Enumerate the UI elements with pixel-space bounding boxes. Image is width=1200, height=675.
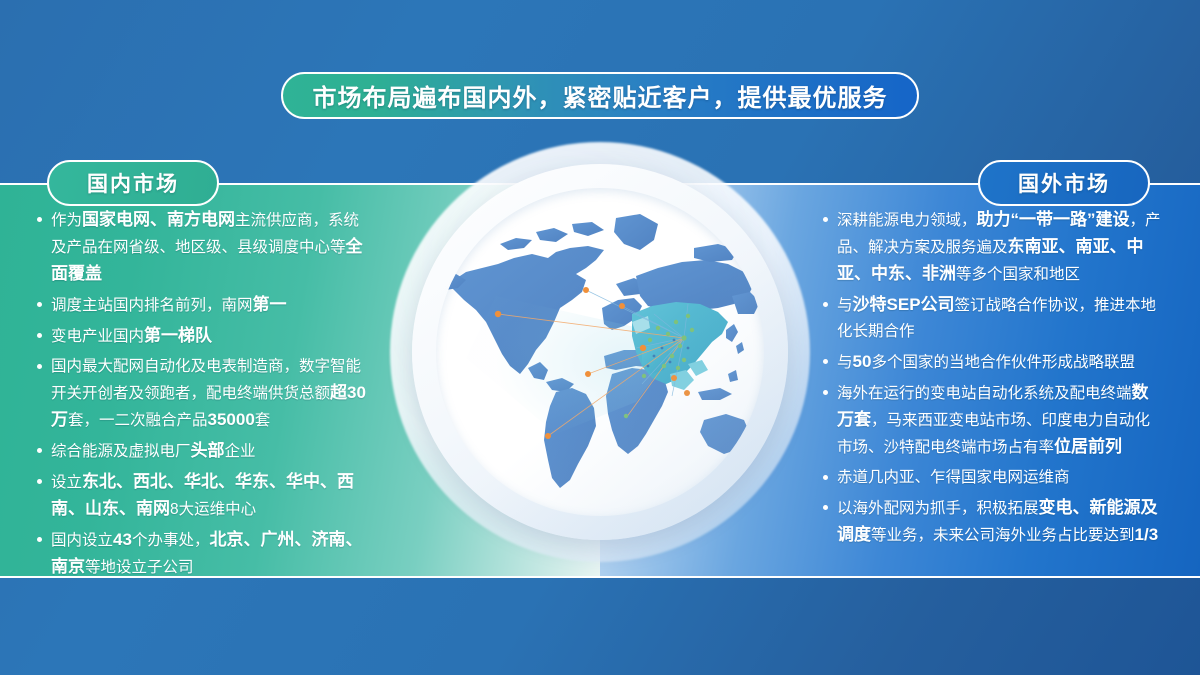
domestic-bullet-5: 综合能源及虚拟电厂头部企业 [36, 438, 366, 465]
bullet-text: 国内最大配网自动化及电表制造商，数字智能开关开创者及领跑者，配电终端供货总额 [51, 358, 361, 402]
bullet-text: 深耕能源电力领域， [837, 212, 977, 229]
bullet-text: 调度主站国内排名前列，南网 [51, 297, 253, 314]
section-header-overseas-label: 国外市场 [1018, 168, 1110, 198]
bullet-emphasis: 位居前列 [1054, 437, 1122, 456]
slide-title: 市场布局遍布国内外，紧密贴近客户，提供最优服务 [281, 72, 919, 119]
bullet-text: 国内设立 [51, 532, 113, 549]
overseas-bullet-3: 与50多个国家的当地合作伙件形成战略联盟 [822, 349, 1162, 376]
bullet-text: 套 [255, 412, 271, 429]
bullet-emphasis: 50 [853, 352, 872, 371]
bullet-emphasis: 35000 [208, 410, 255, 429]
bullet-text: 等业务，未来公司海外业务占比要达到 [871, 527, 1135, 544]
bullet-emphasis: 沙特SEP公司 [853, 295, 955, 314]
bullet-emphasis: 第一梯队 [144, 326, 212, 345]
section-header-domestic: 国内市场 [47, 160, 219, 206]
domestic-bullet-7: 国内设立43个办事处，北京、广州、济南、南京等地设立子公司 [36, 527, 366, 581]
bullet-text: 综合能源及虚拟电厂 [51, 443, 191, 460]
section-header-overseas: 国外市场 [978, 160, 1150, 206]
slide-title-text: 市场布局遍布国内外，紧密贴近客户，提供最优服务 [313, 78, 888, 113]
bullet-text: 个办事处， [132, 532, 210, 549]
bullet-text: 等多个国家和地区 [956, 266, 1080, 283]
overseas-bullet-1: 深耕能源电力领域，助力“一带一路”建设，产品、解决方案及服务遍及东南亚、南亚、中… [822, 207, 1162, 288]
overseas-bullet-list: 深耕能源电力领域，助力“一带一路”建设，产品、解决方案及服务遍及东南亚、南亚、中… [822, 207, 1162, 553]
bullet-emphasis: 国家电网、南方电网 [82, 210, 235, 229]
bullet-emphasis: 43 [113, 530, 132, 549]
bullet-text: 8大运维中心 [170, 501, 256, 518]
domestic-bullet-list: 作为国家电网、南方电网主流供应商，系统及产品在网省级、地区级、县级调度中心等全面… [36, 207, 366, 585]
bullet-emphasis: 1/3 [1135, 525, 1159, 544]
bullet-text: 作为 [51, 212, 82, 229]
bullet-text: 与 [837, 354, 853, 371]
bullet-text: 等地设立子公司 [85, 559, 194, 576]
bullet-emphasis: 头部 [191, 441, 225, 460]
domestic-bullet-3: 变电产业国内第一梯队 [36, 323, 366, 350]
domestic-bullet-6: 设立东北、西北、华北、华东、华中、西南、山东、南网8大运维中心 [36, 469, 366, 523]
domestic-bullet-1: 作为国家电网、南方电网主流供应商，系统及产品在网省级、地区级、县级调度中心等全面… [36, 207, 366, 288]
section-header-domestic-label: 国内市场 [87, 168, 179, 198]
overseas-bullet-5: 赤道几内亚、乍得国家电网运维商 [822, 465, 1162, 491]
bullet-text: 海外在运行的变电站自动化系统及配电终端 [837, 385, 1132, 402]
overseas-bullet-2: 与沙特SEP公司签订战略合作协议，推进本地化长期合作 [822, 292, 1162, 345]
bullet-emphasis: 助力“一带一路”建设 [977, 210, 1130, 229]
overseas-bullet-4: 海外在运行的变电站自动化系统及配电终端数万套，马来西亚变电站市场、印度电力自动化… [822, 380, 1162, 461]
domestic-bullet-4: 国内最大配网自动化及电表制造商，数字智能开关开创者及领跑者，配电终端供货总额超3… [36, 354, 366, 434]
overseas-bullet-6: 以海外配网为抓手，积极拓展变电、新能源及调度等业务，未来公司海外业务占比要达到1… [822, 495, 1162, 549]
domestic-bullet-2: 调度主站国内排名前列，南网第一 [36, 292, 366, 319]
bullet-text: 赤道几内亚、乍得国家电网运维商 [837, 469, 1070, 486]
bullet-text: 企业 [225, 443, 256, 460]
bullet-text: 套，一二次融合产品 [68, 412, 208, 429]
bullet-text: 设立 [51, 474, 82, 491]
bullet-text: 变电产业国内 [51, 328, 144, 345]
bullet-text: 与 [837, 297, 853, 314]
bullet-text: 多个国家的当地合作伙件形成战略联盟 [871, 354, 1135, 371]
bullet-emphasis: 第一 [253, 295, 287, 314]
bullet-text: 以海外配网为抓手，积极拓展 [837, 500, 1039, 517]
slide-canvas: 市场布局遍布国内外，紧密贴近客户，提供最优服务 国内市场 国外市场 作为国家电网… [0, 0, 1200, 675]
